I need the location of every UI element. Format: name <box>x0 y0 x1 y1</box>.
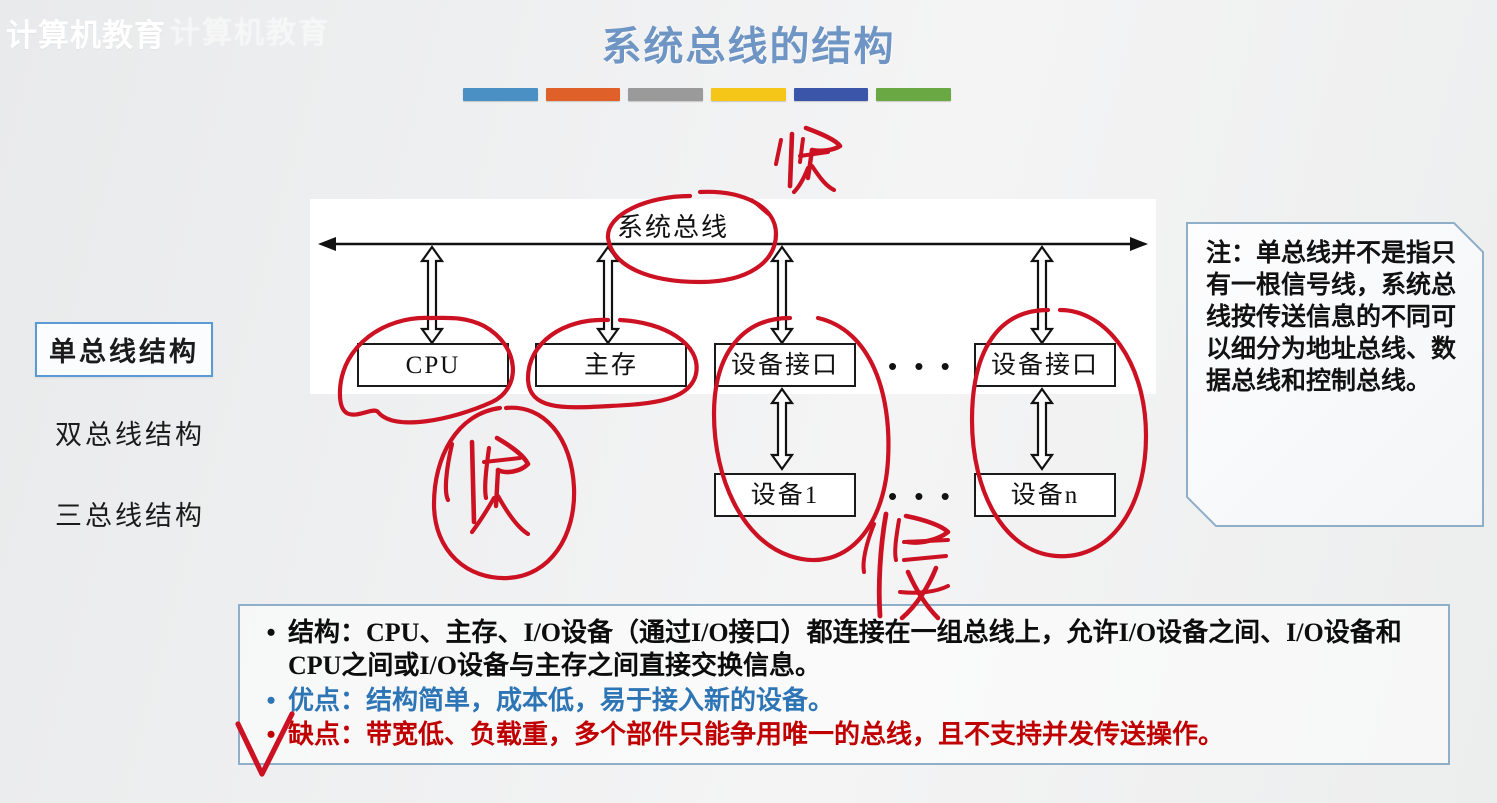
sidebar-nav: 单总线结构 双总线结构 三总线结构 <box>35 322 285 569</box>
info-row-pros: • 优点：结构简单，成本低，易于接入新的设备。 <box>254 684 1440 717</box>
ellipsis-devices: • • • <box>888 481 955 512</box>
info-row-cons: • 缺点：带宽低、负载重，多个部件只能争用唯一的总线，且不支持并发传送操作。 <box>254 718 1440 751</box>
info-body-cons: 带宽低、负载重，多个部件只能争用唯一的总线，且不支持并发传送操作。 <box>366 720 1224 749</box>
page-title: 系统总线的结构 <box>0 14 1497 72</box>
box-device-1: 设备1 <box>714 473 856 517</box>
sidebar-item-triple-bus[interactable]: 三总线结构 <box>35 488 217 539</box>
info-body-structure: CPU、主存、I/O设备（通过I/O接口）都连接在一组总线上，允许I/O设备之间… <box>288 618 1402 680</box>
info-body-pros: 结构简单，成本低，易于接入新的设备。 <box>366 686 834 715</box>
ink-char-slow <box>863 514 948 618</box>
title-bar-yellow <box>711 88 786 101</box>
bullet-structure: • <box>254 616 288 649</box>
bus-architecture-diagram: 系统总线 CPU 主存 设备接口 设备接口 • • • 设备1 设备n • • … <box>310 199 1156 529</box>
bullet-pros: • <box>254 684 288 717</box>
title-bar-blue <box>463 88 538 101</box>
info-box: • 结构：CPU、主存、I/O设备（通过I/O接口）都连接在一组总线上，允许I/… <box>238 604 1450 765</box>
info-head-structure: 结构： <box>288 618 366 647</box>
box-device-interface-n: 设备接口 <box>974 343 1116 387</box>
box-device-n: 设备n <box>974 473 1116 517</box>
slide-canvas: 计算机教育 计算机教育 系统总线的结构 单总线结构 双总线结构 三总线结构 <box>0 0 1497 803</box>
sidebar-item-dual-bus[interactable]: 双总线结构 <box>35 407 217 458</box>
system-bus-label: 系统总线 <box>617 207 729 244</box>
info-head-cons: 缺点： <box>288 720 366 749</box>
ellipsis-interfaces: • • • <box>888 351 955 382</box>
ink-char-fast-top <box>776 128 840 192</box>
title-bar-navy <box>794 88 869 101</box>
title-bar-green <box>876 88 951 101</box>
title-bar-orange <box>546 88 621 101</box>
title-decoration-bars <box>463 88 951 101</box>
info-head-pros: 优点： <box>288 686 366 715</box>
bullet-cons: • <box>254 718 288 751</box>
box-cpu: CPU <box>357 343 509 387</box>
box-device-interface-1: 设备接口 <box>714 343 856 387</box>
title-bar-gray <box>628 88 703 101</box>
sidebar-item-single-bus[interactable]: 单总线结构 <box>35 322 213 377</box>
info-row-structure: • 结构：CPU、主存、I/O设备（通过I/O接口）都连接在一组总线上，允许I/… <box>254 616 1440 683</box>
note-callout: 注：单总线并不是指只有一根信号线，系统总线按传送信息的不同可以细分为地址总线、数… <box>1186 222 1484 527</box>
box-main-memory: 主存 <box>535 343 687 387</box>
